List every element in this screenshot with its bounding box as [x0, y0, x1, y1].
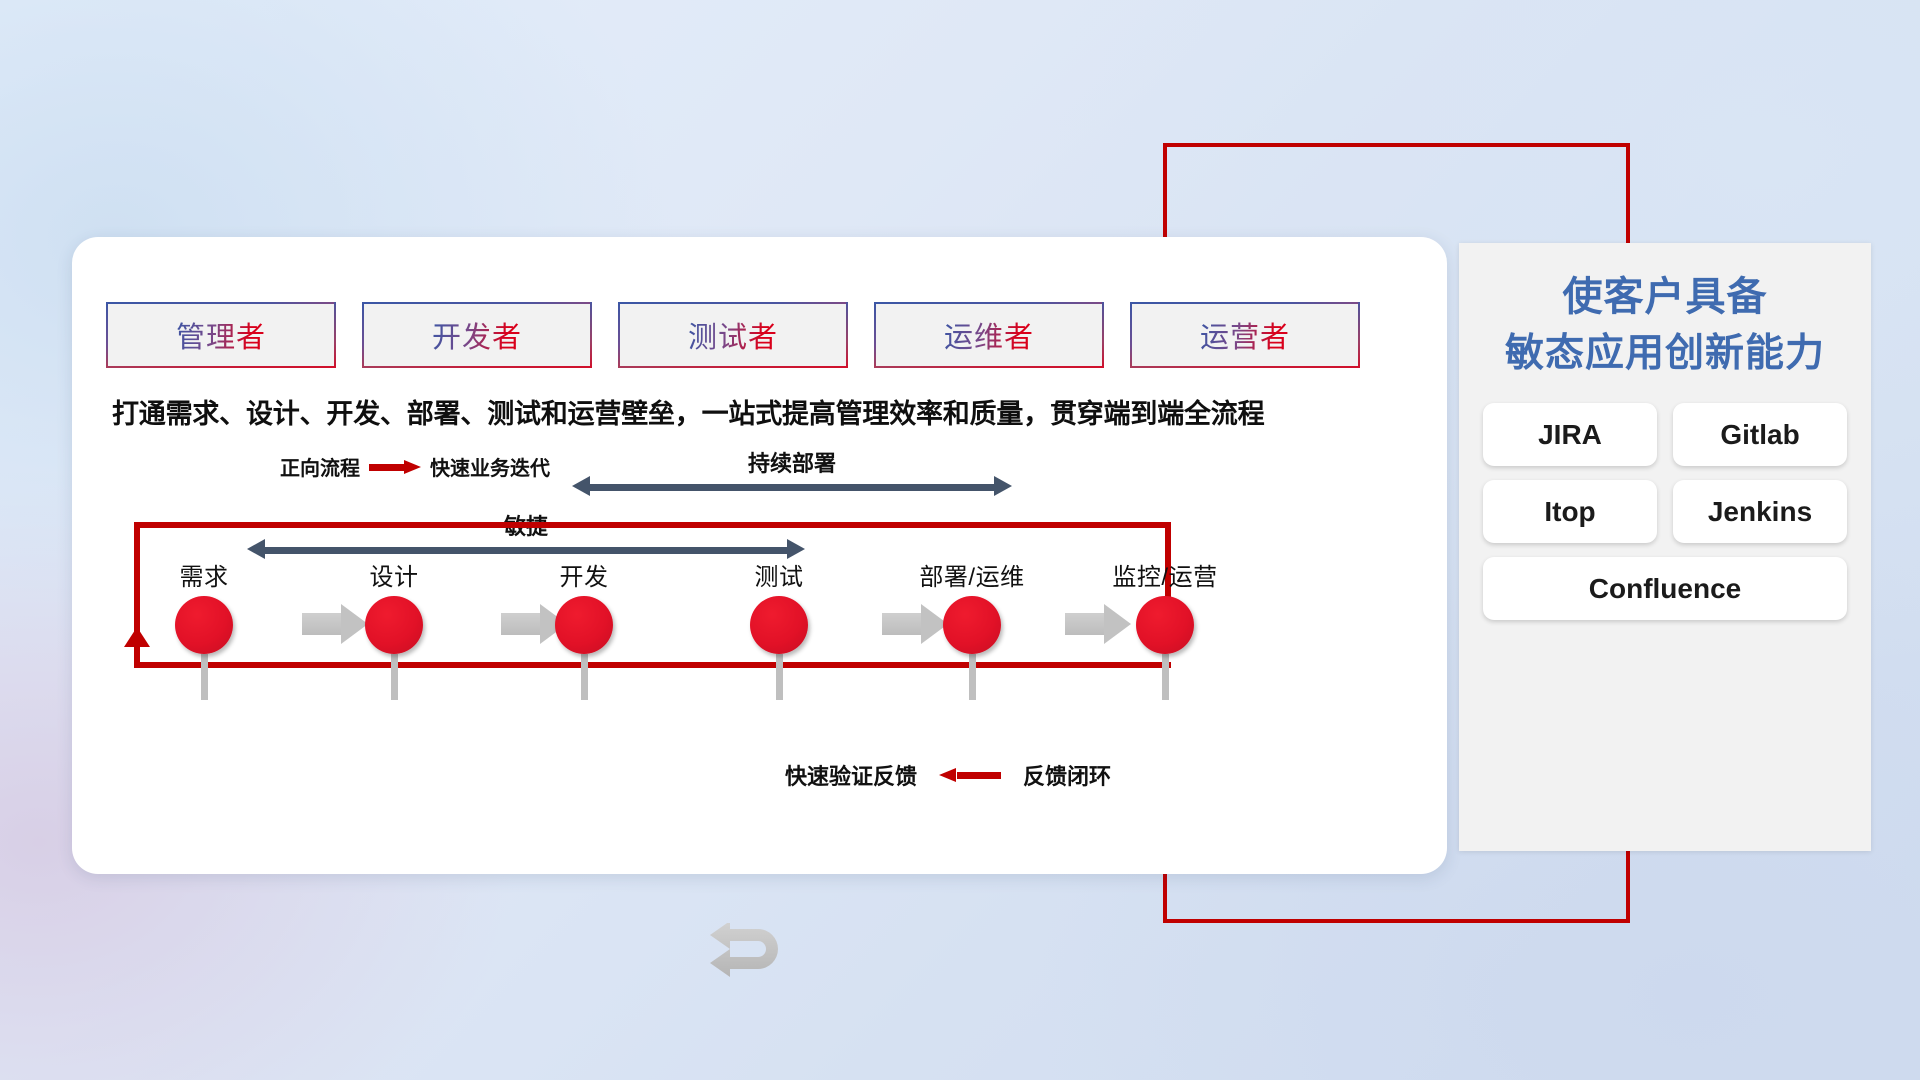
red-loop-top-segment	[134, 522, 1171, 528]
arrow-head-left-icon	[572, 476, 590, 496]
role-label: 运营者	[1200, 314, 1290, 356]
role-box-edge-top	[362, 302, 592, 304]
stage-stem	[201, 654, 208, 700]
description-text: 打通需求、设计、开发、部署、测试和运营壁垒，一站式提高管理效率和质量，贯穿端到端…	[112, 392, 1412, 431]
role-box-manager[interactable]: 管理者	[106, 302, 336, 368]
main-content-card: 管理者 开发者 测试者 运维者	[72, 237, 1447, 874]
tool-chip-jenkins[interactable]: Jenkins	[1673, 480, 1847, 543]
stage-dot-icon	[365, 596, 423, 654]
role-box-edge-right	[590, 302, 592, 368]
pipeline-stage-requirements[interactable]: 需求	[119, 557, 289, 700]
stage-dot-icon	[750, 596, 808, 654]
tool-chip-confluence[interactable]: Confluence	[1483, 557, 1847, 620]
role-box-edge-right	[334, 302, 336, 368]
role-box-edge-bottom	[362, 366, 592, 368]
stage-stem	[1162, 654, 1169, 700]
arrow-head-left-icon	[247, 539, 265, 559]
role-label: 测试者	[688, 314, 778, 356]
role-box-edge-bottom	[1130, 366, 1360, 368]
forward-flow-to-label: 快速业务迭代	[430, 452, 550, 481]
stage-dot-icon	[555, 596, 613, 654]
span-label: 持续部署	[572, 446, 1012, 478]
pipeline-stage-development[interactable]: 开发	[499, 557, 669, 700]
stage-label: 监控/运营	[1080, 557, 1250, 592]
stage-label: 需求	[119, 557, 289, 592]
role-label: 管理者	[176, 314, 266, 356]
feedback-caption: 快速验证反馈 反馈闭环	[785, 759, 1111, 791]
role-box-edge-bottom	[874, 366, 1104, 368]
pipeline-stage-deploy-ops[interactable]: 部署/运维	[887, 557, 1057, 700]
tool-chip-jira[interactable]: JIRA	[1483, 403, 1657, 466]
span-continuous-deployment: 持续部署	[572, 479, 1012, 497]
arrow-right-icon	[369, 460, 421, 474]
stage-dot-icon	[1136, 596, 1194, 654]
role-box-edge-bottom	[618, 366, 848, 368]
role-box-tester[interactable]: 测试者	[618, 302, 848, 368]
stage-stem	[581, 654, 588, 700]
role-label: 运维者	[944, 314, 1034, 356]
feedback-result-label: 快速验证反馈	[785, 759, 917, 791]
stage-label: 设计	[309, 557, 479, 592]
role-box-developer[interactable]: 开发者	[362, 302, 592, 368]
tools-panel-title-line2: 敏态应用创新能力	[1483, 326, 1847, 381]
role-box-edge-right	[1102, 302, 1104, 368]
role-box-edge-left	[362, 302, 364, 368]
role-box-edge-top	[106, 302, 336, 304]
feedback-source-label: 反馈闭环	[1023, 759, 1111, 791]
role-box-edge-bottom	[106, 366, 336, 368]
diagram-canvas: 管理者 开发者 测试者 运维者	[0, 0, 1920, 1080]
tools-panel-title-line1: 使客户具备	[1483, 269, 1847, 326]
role-box-edge-top	[1130, 302, 1360, 304]
arrow-left-icon	[939, 768, 1001, 782]
role-box-business-operator[interactable]: 运营者	[1130, 302, 1360, 368]
role-box-edge-left	[106, 302, 108, 368]
role-box-edge-right	[1358, 302, 1360, 368]
role-box-edge-left	[1130, 302, 1132, 368]
role-box-edge-top	[618, 302, 848, 304]
stage-label: 部署/运维	[887, 557, 1057, 592]
span-bar	[589, 484, 995, 491]
tool-chip-gitlab[interactable]: Gitlab	[1673, 403, 1847, 466]
stage-stem	[391, 654, 398, 700]
role-box-operations-engineer[interactable]: 运维者	[874, 302, 1104, 368]
role-box-edge-top	[874, 302, 1104, 304]
stage-label: 测试	[694, 557, 864, 592]
stage-stem	[776, 654, 783, 700]
tool-chip-itop[interactable]: Itop	[1483, 480, 1657, 543]
tools-panel: 使客户具备 敏态应用创新能力 JIRA Gitlab Itop Jenkins …	[1459, 243, 1871, 851]
stage-dot-icon	[175, 596, 233, 654]
span-bar	[264, 547, 788, 554]
forward-flow-caption: 正向流程 快速业务迭代	[280, 452, 550, 481]
role-label: 开发者	[432, 314, 522, 356]
arrow-head-right-icon	[994, 476, 1012, 496]
stage-dot-icon	[943, 596, 1001, 654]
stage-label: 开发	[499, 557, 669, 592]
tools-grid: JIRA Gitlab Itop Jenkins Confluence	[1483, 403, 1847, 620]
pipeline-track: 需求 设计 开发	[102, 557, 1222, 687]
pipeline-stage-design[interactable]: 设计	[309, 557, 479, 700]
cycle-loop-arrow-icon	[700, 923, 800, 993]
pipeline-stage-testing[interactable]: 测试	[694, 557, 864, 700]
role-box-edge-left	[618, 302, 620, 368]
role-box-edge-left	[874, 302, 876, 368]
stage-stem	[969, 654, 976, 700]
pipeline-stage-monitor-operate[interactable]: 监控/运营	[1080, 557, 1250, 700]
role-box-edge-right	[846, 302, 848, 368]
arrow-head-right-icon	[787, 539, 805, 559]
role-box-row: 管理者 开发者 测试者 运维者	[106, 302, 1360, 368]
forward-flow-from-label: 正向流程	[280, 452, 360, 481]
